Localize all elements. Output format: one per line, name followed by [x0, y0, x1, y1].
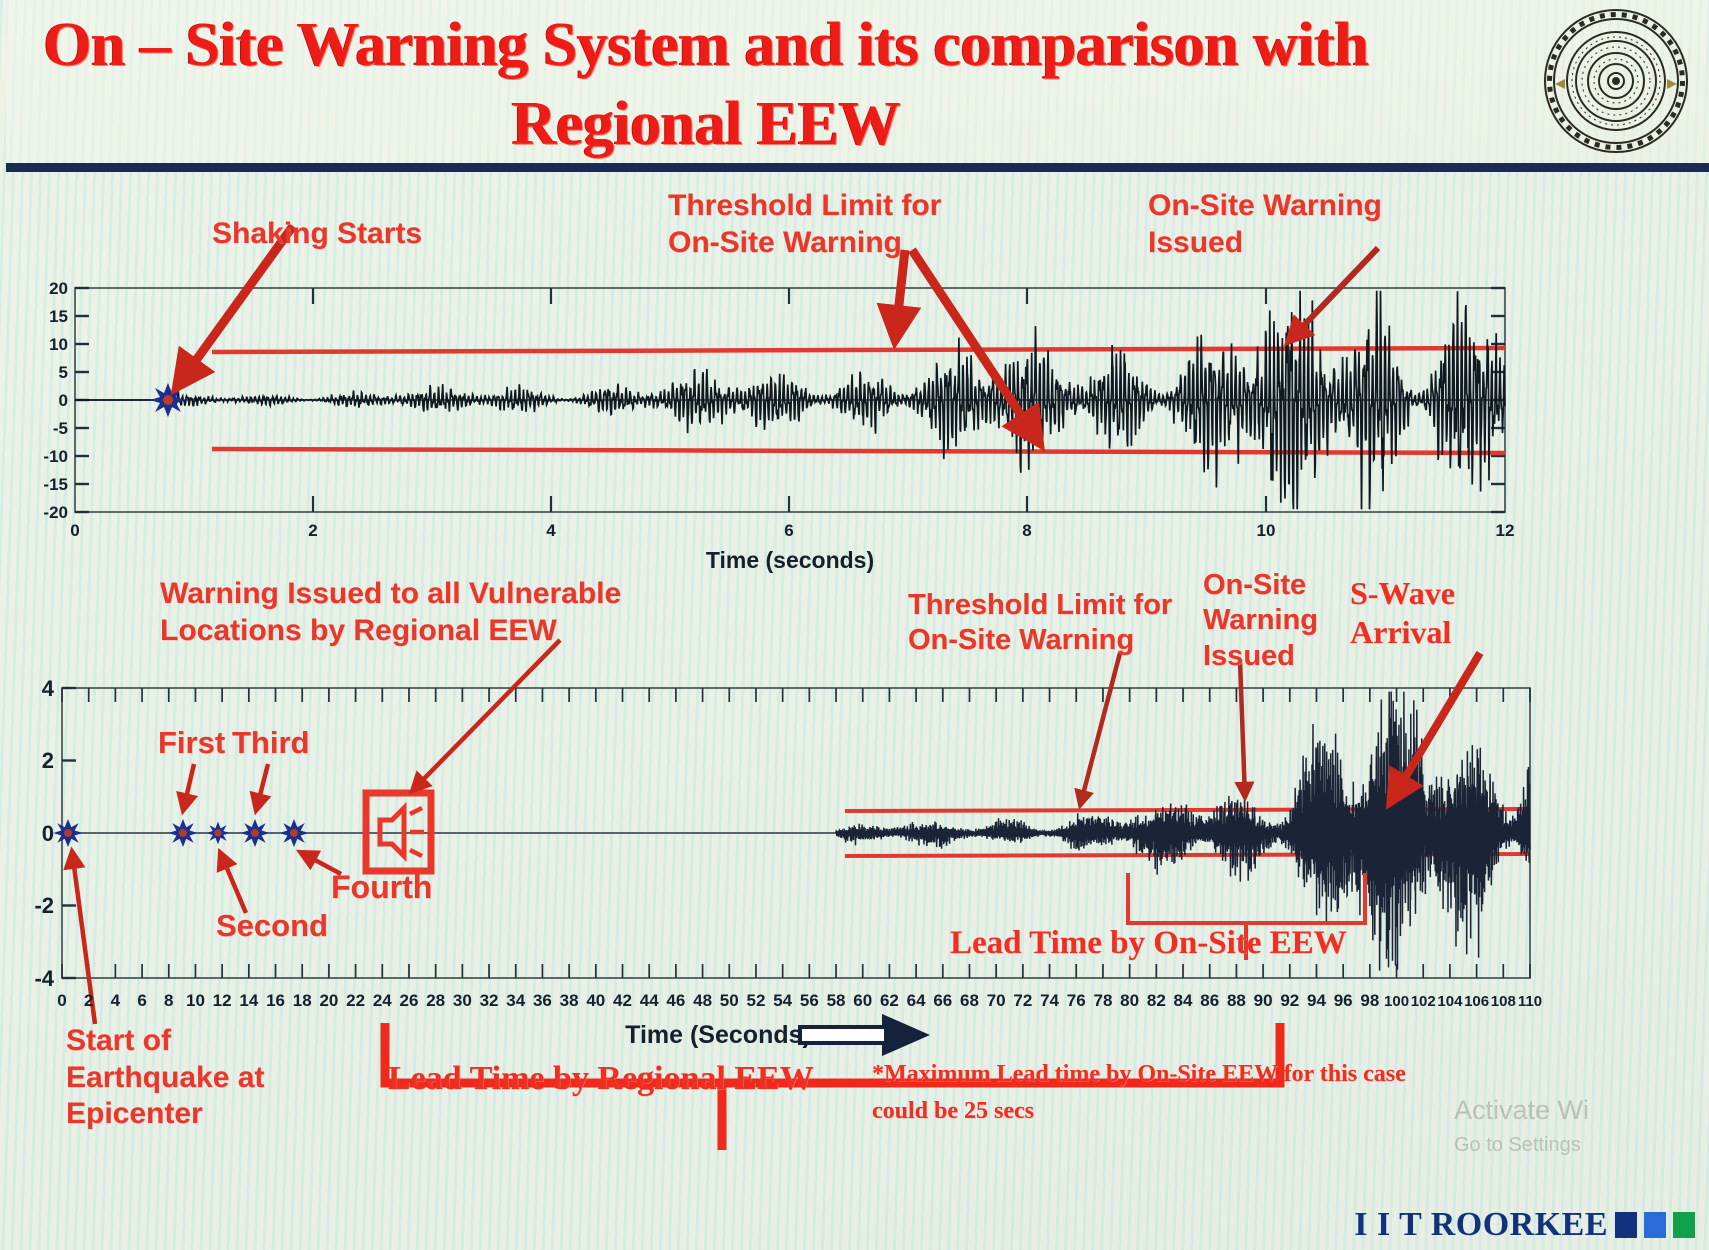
max-lead-time-note: *Maximum Lead time by On-Site EEW for th…	[872, 1056, 1406, 1130]
bottom-chart-x-ticklabel: 70	[987, 991, 1006, 1010]
footer-square-blue-2	[1644, 1212, 1666, 1238]
footer-square-green	[1673, 1212, 1695, 1238]
third-arrow	[256, 764, 268, 811]
first-arrow	[183, 764, 194, 811]
bottom-chart-x-ticklabel: 10	[186, 991, 205, 1010]
bottom-chart-x-ticklabel: 90	[1254, 991, 1273, 1010]
lead-time-onsite-bracket	[1128, 873, 1365, 923]
bottom-chart-x-ticklabel: 110	[1518, 993, 1542, 1010]
epicenter-marker	[53, 819, 83, 847]
threshold-line-upper-top	[212, 348, 1505, 352]
svg-text:-5: -5	[53, 419, 68, 438]
fourth-label: Fourth	[331, 868, 432, 907]
bottom-chart-x-ticklabel: 32	[480, 991, 499, 1010]
bottom-chart-xlabel: Time (Seconds)	[625, 1021, 811, 1049]
second-station-marker	[206, 822, 230, 844]
shaking-starts-label: Shaking Starts	[212, 216, 422, 253]
second-label: Second	[216, 907, 328, 945]
bottom-chart-x-ticklabel: 82	[1147, 991, 1166, 1010]
footer-brand-text: I I T ROORKEE	[1354, 1206, 1608, 1244]
bottom-chart-x-ticklabel: 28	[426, 991, 445, 1010]
threshold-line-lower-top	[212, 449, 1505, 453]
svg-text:10: 10	[1257, 521, 1276, 540]
threshold-arrow-bottom	[1080, 653, 1120, 806]
onsite-warning-issued-label-top: On-Site Warning Issued	[1148, 188, 1382, 261]
bottom-chart-x-ticklabel: 34	[506, 991, 525, 1010]
svg-text:2: 2	[308, 521, 317, 540]
bottom-chart-x-ticklabel: 58	[827, 991, 846, 1010]
bottom-chart-x-ticklabel: 42	[613, 991, 632, 1010]
bottom-chart-x-ticklabel: 24	[373, 991, 392, 1010]
bottom-chart-x-ticklabel: 66	[933, 991, 952, 1010]
bottom-chart-x-ticklabel: 8	[164, 991, 173, 1010]
svg-text:-10: -10	[43, 447, 68, 466]
regional-warning-arrow	[412, 640, 560, 791]
bottom-chart-x-ticklabel: 6	[137, 991, 146, 1010]
start-of-earthquake-label: Start of Earthquake at Epicenter	[66, 1023, 264, 1133]
first-label: First	[158, 724, 225, 762]
bottom-chart-x-ticklabel: 100	[1384, 993, 1409, 1010]
time-direction-arrow-icon	[800, 1017, 925, 1053]
second-arrow	[220, 852, 246, 913]
bottom-chart-x-ticklabel: 74	[1040, 991, 1059, 1010]
bottom-chart-x-ticklabel: 2	[84, 991, 93, 1010]
bottom-chart-panel: Warning Issued to all Vulnerable Locatio…	[0, 568, 1709, 1250]
bottom-chart-x-ticklabel: 96	[1334, 991, 1353, 1010]
bottom-chart-x-ticklabel: 86	[1200, 991, 1219, 1010]
bottom-chart-x-ticklabel: 72	[1013, 991, 1032, 1010]
svg-text:-15: -15	[43, 475, 68, 494]
svg-text:-2: -2	[34, 893, 54, 918]
bottom-chart-x-ticklabel: 16	[266, 991, 285, 1010]
bottom-chart-x-ticklabel: 14	[239, 991, 258, 1010]
svg-text:0: 0	[42, 821, 54, 846]
bottom-chart-x-ticklabel: 44	[640, 991, 659, 1010]
svg-text:20: 20	[49, 279, 68, 298]
bottom-chart-x-ticklabel: 64	[907, 991, 926, 1010]
bottom-chart-x-ticklabel: 36	[533, 991, 552, 1010]
lead-time-regional-label: Lead Time by Regional EEW	[388, 1058, 814, 1099]
title-bar: On – Site Warning System and its compari…	[6, 0, 1709, 172]
top-chart-y-ticklabels: 201510 50-5 -10-15-20	[43, 279, 68, 522]
bottom-chart-x-ticklabel: 94	[1307, 991, 1326, 1010]
bottom-chart-x-ticklabel: 84	[1174, 991, 1193, 1010]
svg-text:8: 8	[1022, 521, 1031, 540]
svg-text:4: 4	[546, 521, 556, 540]
svg-text:0: 0	[59, 391, 68, 410]
bottom-chart-y-ticklabels: 4 2 0 -2 -4	[34, 676, 54, 991]
page-title: On – Site Warning System and its compari…	[6, 6, 1406, 165]
iit-roorkee-emblem-icon	[1541, 6, 1691, 156]
bottom-chart-x-ticklabel: 0	[57, 991, 66, 1010]
svg-text:15: 15	[49, 307, 68, 326]
threshold-limit-label-top: Threshold Limit for On-Site Warning	[668, 188, 941, 261]
bottom-chart-x-ticklabel: 104	[1437, 993, 1463, 1010]
slide-root: On – Site Warning System and its compari…	[0, 0, 1709, 1250]
bottom-chart-x-ticklabel: 46	[666, 991, 685, 1010]
bottom-chart-x-ticklabel: 38	[560, 991, 579, 1010]
bottom-chart-x-ticklabel: 50	[720, 991, 739, 1010]
threshold-upper-arrow	[895, 250, 905, 341]
bottom-chart-x-ticklabel: 56	[800, 991, 819, 1010]
bottom-chart-x-ticklabel: 22	[346, 991, 365, 1010]
bottom-chart-x-ticklabel: 52	[747, 991, 766, 1010]
bottom-chart-x-ticklabel: 88	[1227, 991, 1246, 1010]
third-label: Third	[232, 724, 310, 762]
bottom-chart-x-ticklabel: 30	[453, 991, 472, 1010]
bottom-chart-x-ticklabel: 62	[880, 991, 899, 1010]
s-wave-arrival-label: S-Wave Arrival	[1350, 574, 1455, 652]
svg-text:5: 5	[59, 363, 68, 382]
bottom-chart-x-ticklabel: 48	[693, 991, 712, 1010]
svg-text:12: 12	[1496, 521, 1515, 540]
bottom-chart-x-ticklabel: 76	[1067, 991, 1086, 1010]
regional-warning-speaker-icon	[366, 793, 431, 871]
svg-text:10: 10	[49, 335, 68, 354]
fourth-station-marker	[279, 819, 309, 847]
bottom-chart-x-ticklabel: 68	[960, 991, 979, 1010]
bottom-chart-x-ticklabel: 20	[319, 991, 338, 1010]
onsite-warning-issued-label-bottom: On-Site Warning Issued	[1203, 568, 1318, 674]
bottom-chart-x-ticklabels: 0246810121416182022242628303234363840424…	[57, 991, 1542, 1010]
svg-text:6: 6	[784, 521, 793, 540]
bottom-chart-x-ticklabel: 98	[1360, 991, 1379, 1010]
bottom-chart-x-ticklabel: 78	[1093, 991, 1112, 1010]
regional-warning-label: Warning Issued to all Vulnerable Locatio…	[160, 576, 621, 649]
bottom-chart-x-ticklabel: 18	[293, 991, 312, 1010]
top-chart-panel: Shaking Starts Threshold Limit for On-Si…	[0, 176, 1709, 576]
bottom-chart-x-ticklabel: 60	[853, 991, 872, 1010]
onsite-warning-arrow-bottom	[1240, 660, 1245, 798]
bottom-chart-x-ticklabel: 108	[1491, 993, 1516, 1010]
bottom-chart-x-ticklabel: 92	[1280, 991, 1299, 1010]
svg-text:-4: -4	[34, 966, 54, 991]
first-station-marker	[168, 819, 198, 847]
bottom-chart-x-ticklabel: 54	[773, 991, 792, 1010]
bottom-chart-x-ticklabel: 80	[1120, 991, 1139, 1010]
bottom-chart-x-ticklabel: 4	[111, 991, 121, 1010]
top-chart-x-ticklabels: 024 6810 12	[70, 521, 1514, 540]
footer-square-blue-1	[1615, 1212, 1637, 1238]
third-station-marker	[240, 819, 270, 847]
footer-brand: I I T ROORKEE	[1354, 1206, 1695, 1244]
svg-text:-20: -20	[43, 503, 68, 522]
bottom-chart-x-ticklabel: 106	[1464, 993, 1489, 1010]
svg-text:4: 4	[42, 676, 55, 701]
bottom-chart-x-ticklabel: 26	[400, 991, 419, 1010]
bottom-chart-x-ticklabel: 12	[213, 991, 232, 1010]
lead-time-onsite-label: Lead Time by On-Site EEW	[950, 923, 1347, 963]
bottom-chart-x-ticklabel: 40	[586, 991, 605, 1010]
bottom-chart-x-ticklabel: 102	[1411, 993, 1436, 1010]
onsite-warning-arrow-top	[1288, 248, 1378, 342]
svg-text:0: 0	[70, 521, 79, 540]
svg-text:2: 2	[42, 748, 54, 773]
threshold-limit-label-bottom: Threshold Limit for On-Site Warning	[908, 588, 1172, 659]
